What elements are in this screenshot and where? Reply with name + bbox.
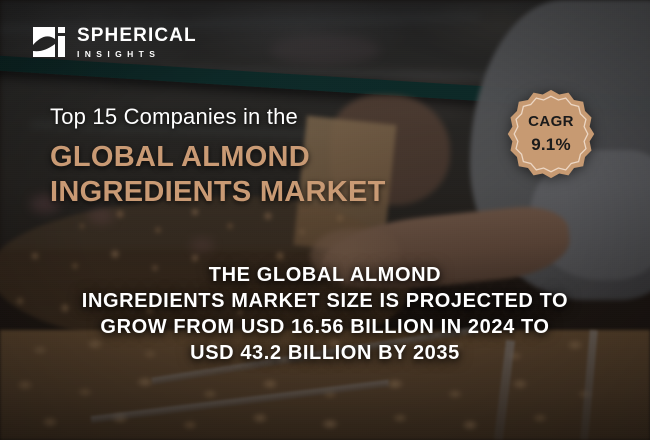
logo-name: SPHERICAL — [77, 26, 197, 45]
badge-label: CAGR — [528, 113, 574, 130]
page-title: GLOBAL ALMOND INGREDIENTS MARKET — [50, 140, 470, 211]
badge-text-group: CAGR 9.1% — [505, 88, 597, 180]
infographic-canvas: SPHERICAL INSIGHTS Top 15 Companies in t… — [0, 0, 650, 440]
statement-line-3: GROW FROM USD 16.56 BILLION IN 2024 TO — [28, 314, 622, 340]
spherical-insights-logo-mark-icon — [33, 27, 67, 57]
hero-kicker: Top 15 Companies in the — [50, 104, 298, 130]
logo-wordmark: SPHERICAL INSIGHTS — [77, 26, 197, 59]
logo-tagline: INSIGHTS — [77, 50, 197, 59]
statement-line-2: INGREDIENTS MARKET SIZE IS PROJECTED TO — [28, 288, 622, 314]
statement-line-1: THE GLOBAL ALMOND — [28, 262, 622, 288]
badge-value: 9.1% — [531, 135, 571, 155]
headline-line-2: INGREDIENTS MARKET — [50, 175, 470, 210]
cagr-badge: CAGR 9.1% — [505, 88, 597, 180]
headline-line-1: GLOBAL ALMOND — [50, 140, 470, 175]
brand-logo: SPHERICAL INSIGHTS — [33, 26, 197, 59]
content-layer: SPHERICAL INSIGHTS Top 15 Companies in t… — [0, 0, 650, 440]
market-statement: THE GLOBAL ALMOND INGREDIENTS MARKET SIZ… — [28, 262, 622, 366]
statement-line-4: USD 43.2 BILLION BY 2035 — [28, 340, 622, 366]
